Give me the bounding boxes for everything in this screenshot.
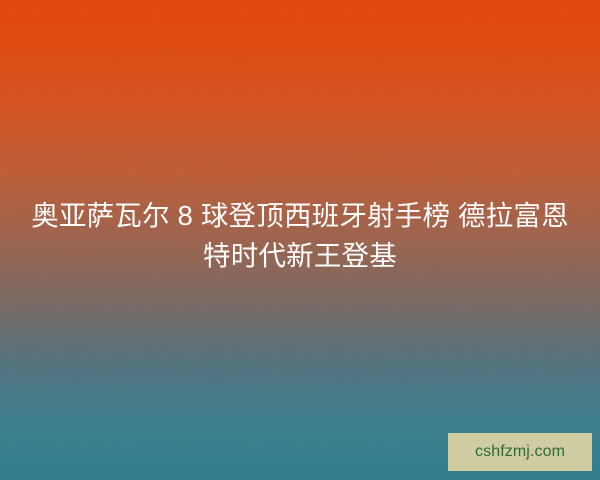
screenshot-root: 奥亚萨瓦尔 8 球登顶西班牙射手榜 德拉富恩特时代新王登基 cshfzmj.co… [0, 0, 600, 480]
watermark-badge: cshfzmj.com [448, 433, 592, 471]
headline-text: 奥亚萨瓦尔 8 球登顶西班牙射手榜 德拉富恩特时代新王登基 [0, 196, 600, 276]
watermark-label: cshfzmj.com [475, 444, 565, 460]
